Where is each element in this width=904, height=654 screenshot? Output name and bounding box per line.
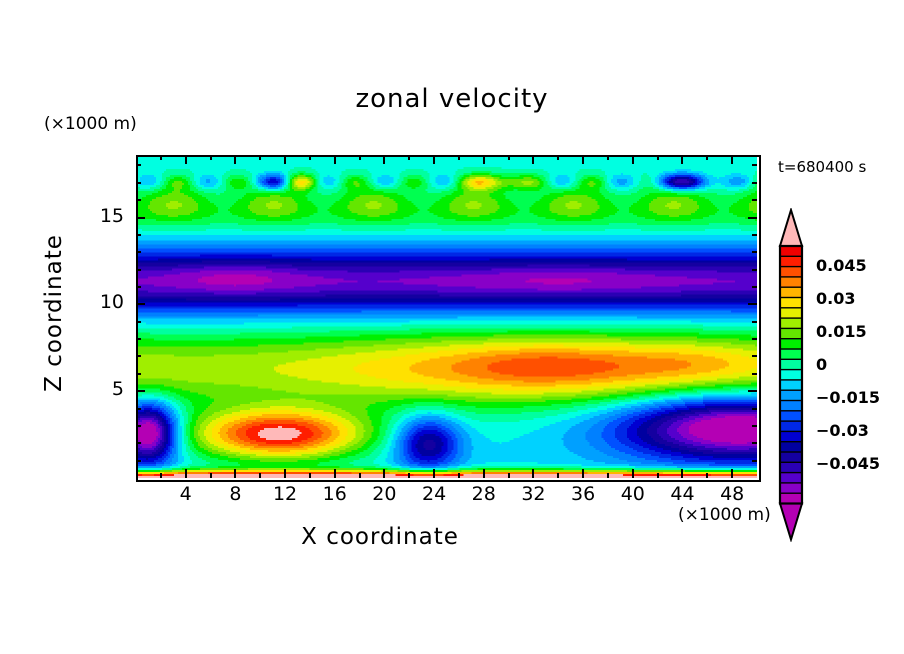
y-axis-tick — [752, 269, 757, 271]
contour-plot-area — [136, 155, 757, 478]
y-axis-tick — [752, 408, 757, 410]
y-axis-tick — [136, 234, 141, 236]
y-axis-tick — [752, 164, 757, 166]
colorbar-tick-label: 0 — [816, 355, 827, 374]
y-axis-tick — [752, 338, 757, 340]
y-axis-unit-label: (×1000 m) — [44, 114, 137, 134]
x-axis-tick — [359, 473, 361, 478]
y-axis-tick — [136, 182, 141, 184]
x-axis-tick — [160, 473, 162, 478]
x-axis-tick — [259, 473, 261, 478]
x-axis-tick — [234, 469, 236, 478]
y-axis-tick — [136, 286, 141, 288]
x-axis-tick — [532, 469, 534, 478]
y-axis-tick — [136, 217, 145, 219]
y-axis-tick — [136, 390, 145, 392]
y-axis-tick — [752, 425, 757, 427]
y-axis-tick — [136, 373, 141, 375]
x-axis-tick — [632, 155, 634, 164]
x-axis-tick — [582, 469, 584, 478]
x-axis-tick — [607, 473, 609, 478]
y-axis-tick — [752, 182, 757, 184]
y-axis-tick — [136, 442, 141, 444]
colorbar-tick-label: −0.015 — [816, 388, 880, 407]
x-axis-tick — [433, 469, 435, 478]
y-axis-tick — [136, 408, 141, 410]
x-axis-tick — [185, 469, 187, 478]
x-axis-tick — [359, 155, 361, 160]
x-axis-tick — [458, 155, 460, 160]
x-axis-tick — [433, 155, 435, 164]
y-axis-tick-label: 10 — [74, 291, 124, 313]
x-axis-tick — [681, 155, 683, 164]
y-axis-tick — [752, 286, 757, 288]
x-axis-tick — [681, 469, 683, 478]
chart-title: zonal velocity — [0, 84, 904, 114]
y-axis-tick — [752, 234, 757, 236]
y-axis-tick — [136, 199, 141, 201]
colorbar: 0.0450.030.0150−0.015−0.03−0.045 — [778, 208, 804, 546]
x-axis-title: X coordinate — [0, 524, 760, 550]
colorbar-tick-label: −0.045 — [816, 454, 880, 473]
x-axis-tick — [160, 155, 162, 160]
x-axis-tick — [210, 473, 212, 478]
y-axis-tick-label: 5 — [74, 378, 124, 400]
x-axis-tick — [259, 155, 261, 160]
x-axis-tick — [284, 155, 286, 164]
y-axis-tick-label: 15 — [74, 205, 124, 227]
x-axis-tick — [508, 473, 510, 478]
x-axis-tick — [408, 473, 410, 478]
y-axis-tick — [136, 425, 141, 427]
x-axis-tick — [706, 473, 708, 478]
x-axis-tick — [607, 155, 609, 160]
x-axis-tick — [334, 155, 336, 164]
x-axis-tick — [458, 473, 460, 478]
x-axis-tick-label: 48 — [702, 483, 762, 505]
colorbar-tick-label: 0.015 — [816, 322, 867, 341]
y-axis-tick — [136, 338, 141, 340]
x-axis-tick — [508, 155, 510, 160]
x-axis-tick — [657, 155, 659, 160]
y-axis-tick — [136, 164, 141, 166]
y-axis-tick — [748, 303, 757, 305]
y-axis-tick — [752, 373, 757, 375]
colorbar-tick-label: 0.03 — [816, 289, 855, 308]
x-axis-tick — [532, 155, 534, 164]
x-axis-tick — [483, 155, 485, 164]
x-axis-tick — [309, 473, 311, 478]
y-axis-tick — [136, 321, 141, 323]
x-axis-tick — [731, 155, 733, 164]
y-axis-title: Z coordinate — [41, 233, 67, 393]
y-axis-tick — [748, 390, 757, 392]
colorbar-tick-label: −0.03 — [816, 421, 869, 440]
x-axis-tick — [284, 469, 286, 478]
y-axis-tick — [752, 460, 757, 462]
x-axis-tick — [706, 155, 708, 160]
x-axis-tick — [383, 155, 385, 164]
y-axis-tick — [752, 199, 757, 201]
x-axis-tick — [408, 155, 410, 160]
timestamp-annotation: t=680400 s — [778, 158, 866, 176]
x-axis-tick — [185, 155, 187, 164]
colorbar-tick-label: 0.045 — [816, 256, 867, 275]
y-axis-tick — [752, 321, 757, 323]
x-axis-tick — [657, 473, 659, 478]
y-axis-tick — [136, 251, 141, 253]
y-axis-tick — [136, 269, 141, 271]
y-axis-tick — [748, 217, 757, 219]
y-axis-tick — [136, 460, 141, 462]
y-axis-tick — [136, 303, 145, 305]
x-axis-tick — [309, 155, 311, 160]
y-axis-tick — [752, 442, 757, 444]
x-axis-tick — [632, 469, 634, 478]
y-axis-tick — [136, 355, 141, 357]
x-axis-tick — [557, 155, 559, 160]
x-axis-tick — [731, 469, 733, 478]
x-axis-unit-label: (×1000 m) — [678, 505, 771, 525]
x-axis-tick — [582, 155, 584, 164]
x-axis-tick — [383, 469, 385, 478]
x-axis-tick — [483, 469, 485, 478]
x-axis-tick — [210, 155, 212, 160]
x-axis-tick — [557, 473, 559, 478]
y-axis-tick — [752, 251, 757, 253]
x-axis-tick — [234, 155, 236, 164]
x-axis-tick — [334, 469, 336, 478]
y-axis-tick — [752, 355, 757, 357]
